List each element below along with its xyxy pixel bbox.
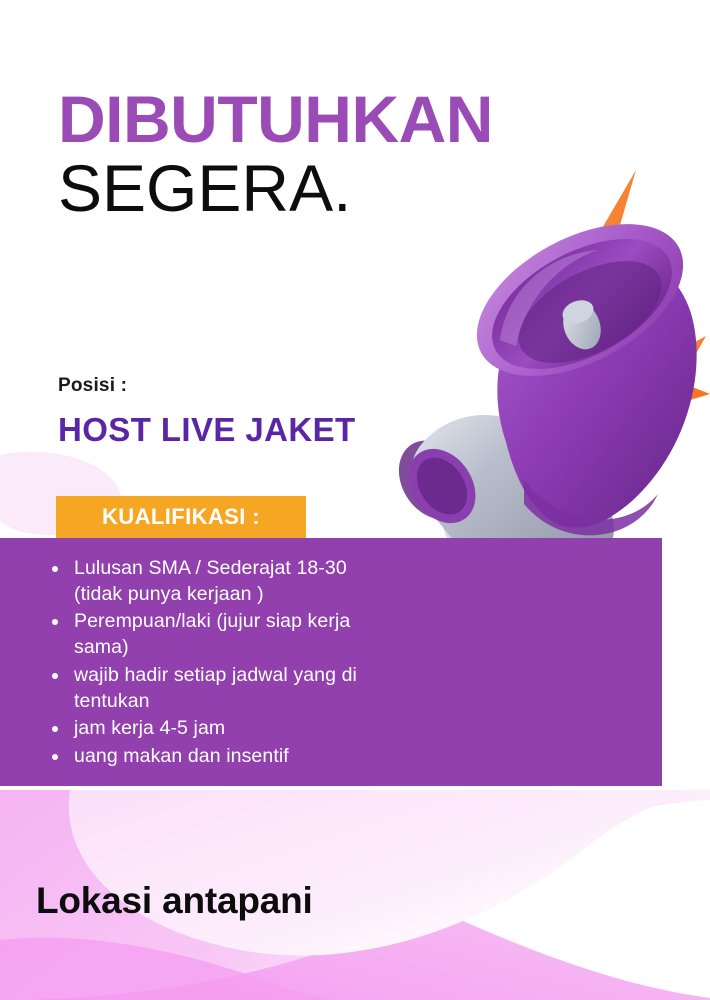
megaphone-cone <box>452 193 708 528</box>
headline-line-1: DIBUTUHKAN <box>58 86 658 152</box>
headline-line-2: SEGERA. <box>58 152 658 226</box>
position-label: Posisi : <box>58 375 127 397</box>
job-poster: DIBUTUHKAN SEGERA. <box>0 0 710 1000</box>
position-value: HOST LIVE JAKET <box>58 411 356 449</box>
qualifications-list: Lulusan SMA / Sederajat 18-30 (tidak pun… <box>0 538 662 770</box>
wave-shape-bottom-accent <box>0 938 340 1000</box>
wave-shape-bottom-light <box>69 790 710 955</box>
list-item: wajib hadir setiap jadwal yang di tentuk… <box>52 663 374 714</box>
list-item: Lulusan SMA / Sederajat 18-30 (tidak pun… <box>52 556 374 607</box>
list-item: jam kerja 4-5 jam <box>52 716 374 742</box>
megaphone-lip <box>524 480 658 535</box>
list-item: uang makan dan insentif <box>52 744 374 770</box>
qualifications-badge: KUALIFIKASI : <box>56 496 306 538</box>
megaphone-knob <box>557 296 607 355</box>
lightning-bolt-right-icon <box>618 336 710 422</box>
qualifications-badge-label: KUALIFIKASI : <box>56 504 306 530</box>
location-text: Lokasi antapani <box>36 880 313 922</box>
qualifications-panel: Lulusan SMA / Sederajat 18-30 (tidak pun… <box>0 538 662 786</box>
list-item: Perempuan/laki (jujur siap kerja sama) <box>52 609 374 660</box>
headline: DIBUTUHKAN SEGERA. <box>58 86 658 226</box>
